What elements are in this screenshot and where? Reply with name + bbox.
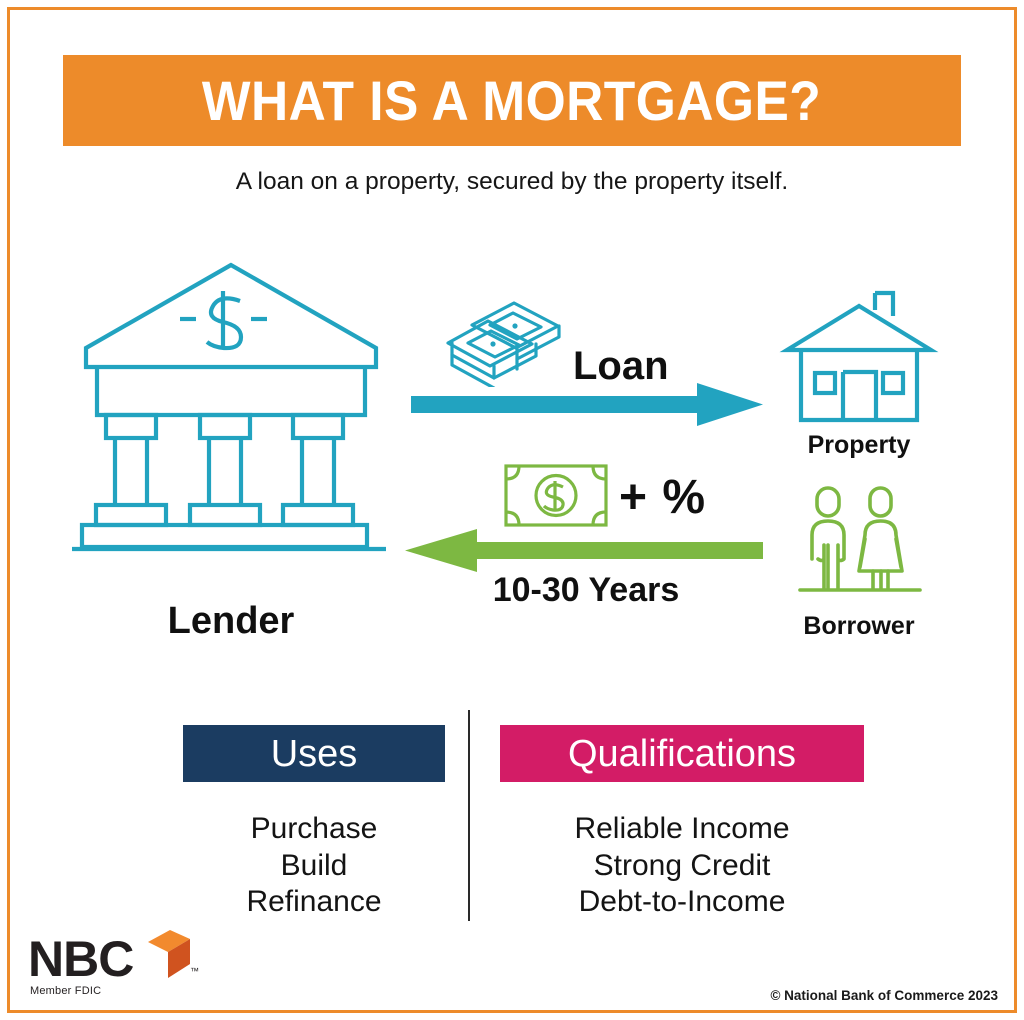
qualifications-list: Reliable Income Strong Credit Debt-to-In… [500,811,864,921]
repayment-arrow-left-icon [405,528,763,573]
money-stack-icon [446,299,564,387]
bank-icon [70,255,392,593]
loan-term-label: 10-30 Years [410,571,762,610]
interest-percent-label: + % [619,470,706,525]
list-item: Refinance [183,884,445,921]
list-item: Build [183,848,445,885]
list-item: Purchase [183,811,445,848]
page-subtitle: A loan on a property, secured by the pro… [0,168,1024,196]
house-icon [775,288,943,428]
mortgage-infographic: WHAT IS A MORTGAGE? A loan on a property… [0,0,1024,1020]
qualifications-column: Qualifications Reliable Income Strong Cr… [500,725,864,921]
qualifications-heading: Qualifications [500,725,864,782]
loan-arrow-right-icon [411,382,763,427]
member-fdic-label: Member FDIC [30,985,101,997]
uses-column: Uses Purchase Build Refinance [183,725,445,921]
nbc-logo: NBC ™ Member FDIC [28,928,218,1000]
list-item: Reliable Income [500,811,864,848]
lender-label: Lender [70,600,392,643]
logo-wordmark: NBC [28,934,133,984]
dollar-bill-icon [503,463,609,528]
title-banner: WHAT IS A MORTGAGE? [63,55,961,146]
uses-heading: Uses [183,725,445,782]
cube-icon [144,928,192,978]
property-label: Property [748,431,970,460]
page-title: WHAT IS A MORTGAGE? [202,73,821,129]
copyright-notice: © National Bank of Commerce 2023 [770,988,998,1003]
trademark-symbol: ™ [190,966,199,976]
uses-list: Purchase Build Refinance [183,811,445,921]
column-divider [468,710,470,921]
list-item: Strong Credit [500,848,864,885]
two-people-icon [798,485,922,605]
list-item: Debt-to-Income [500,884,864,921]
borrower-label: Borrower [748,612,970,641]
